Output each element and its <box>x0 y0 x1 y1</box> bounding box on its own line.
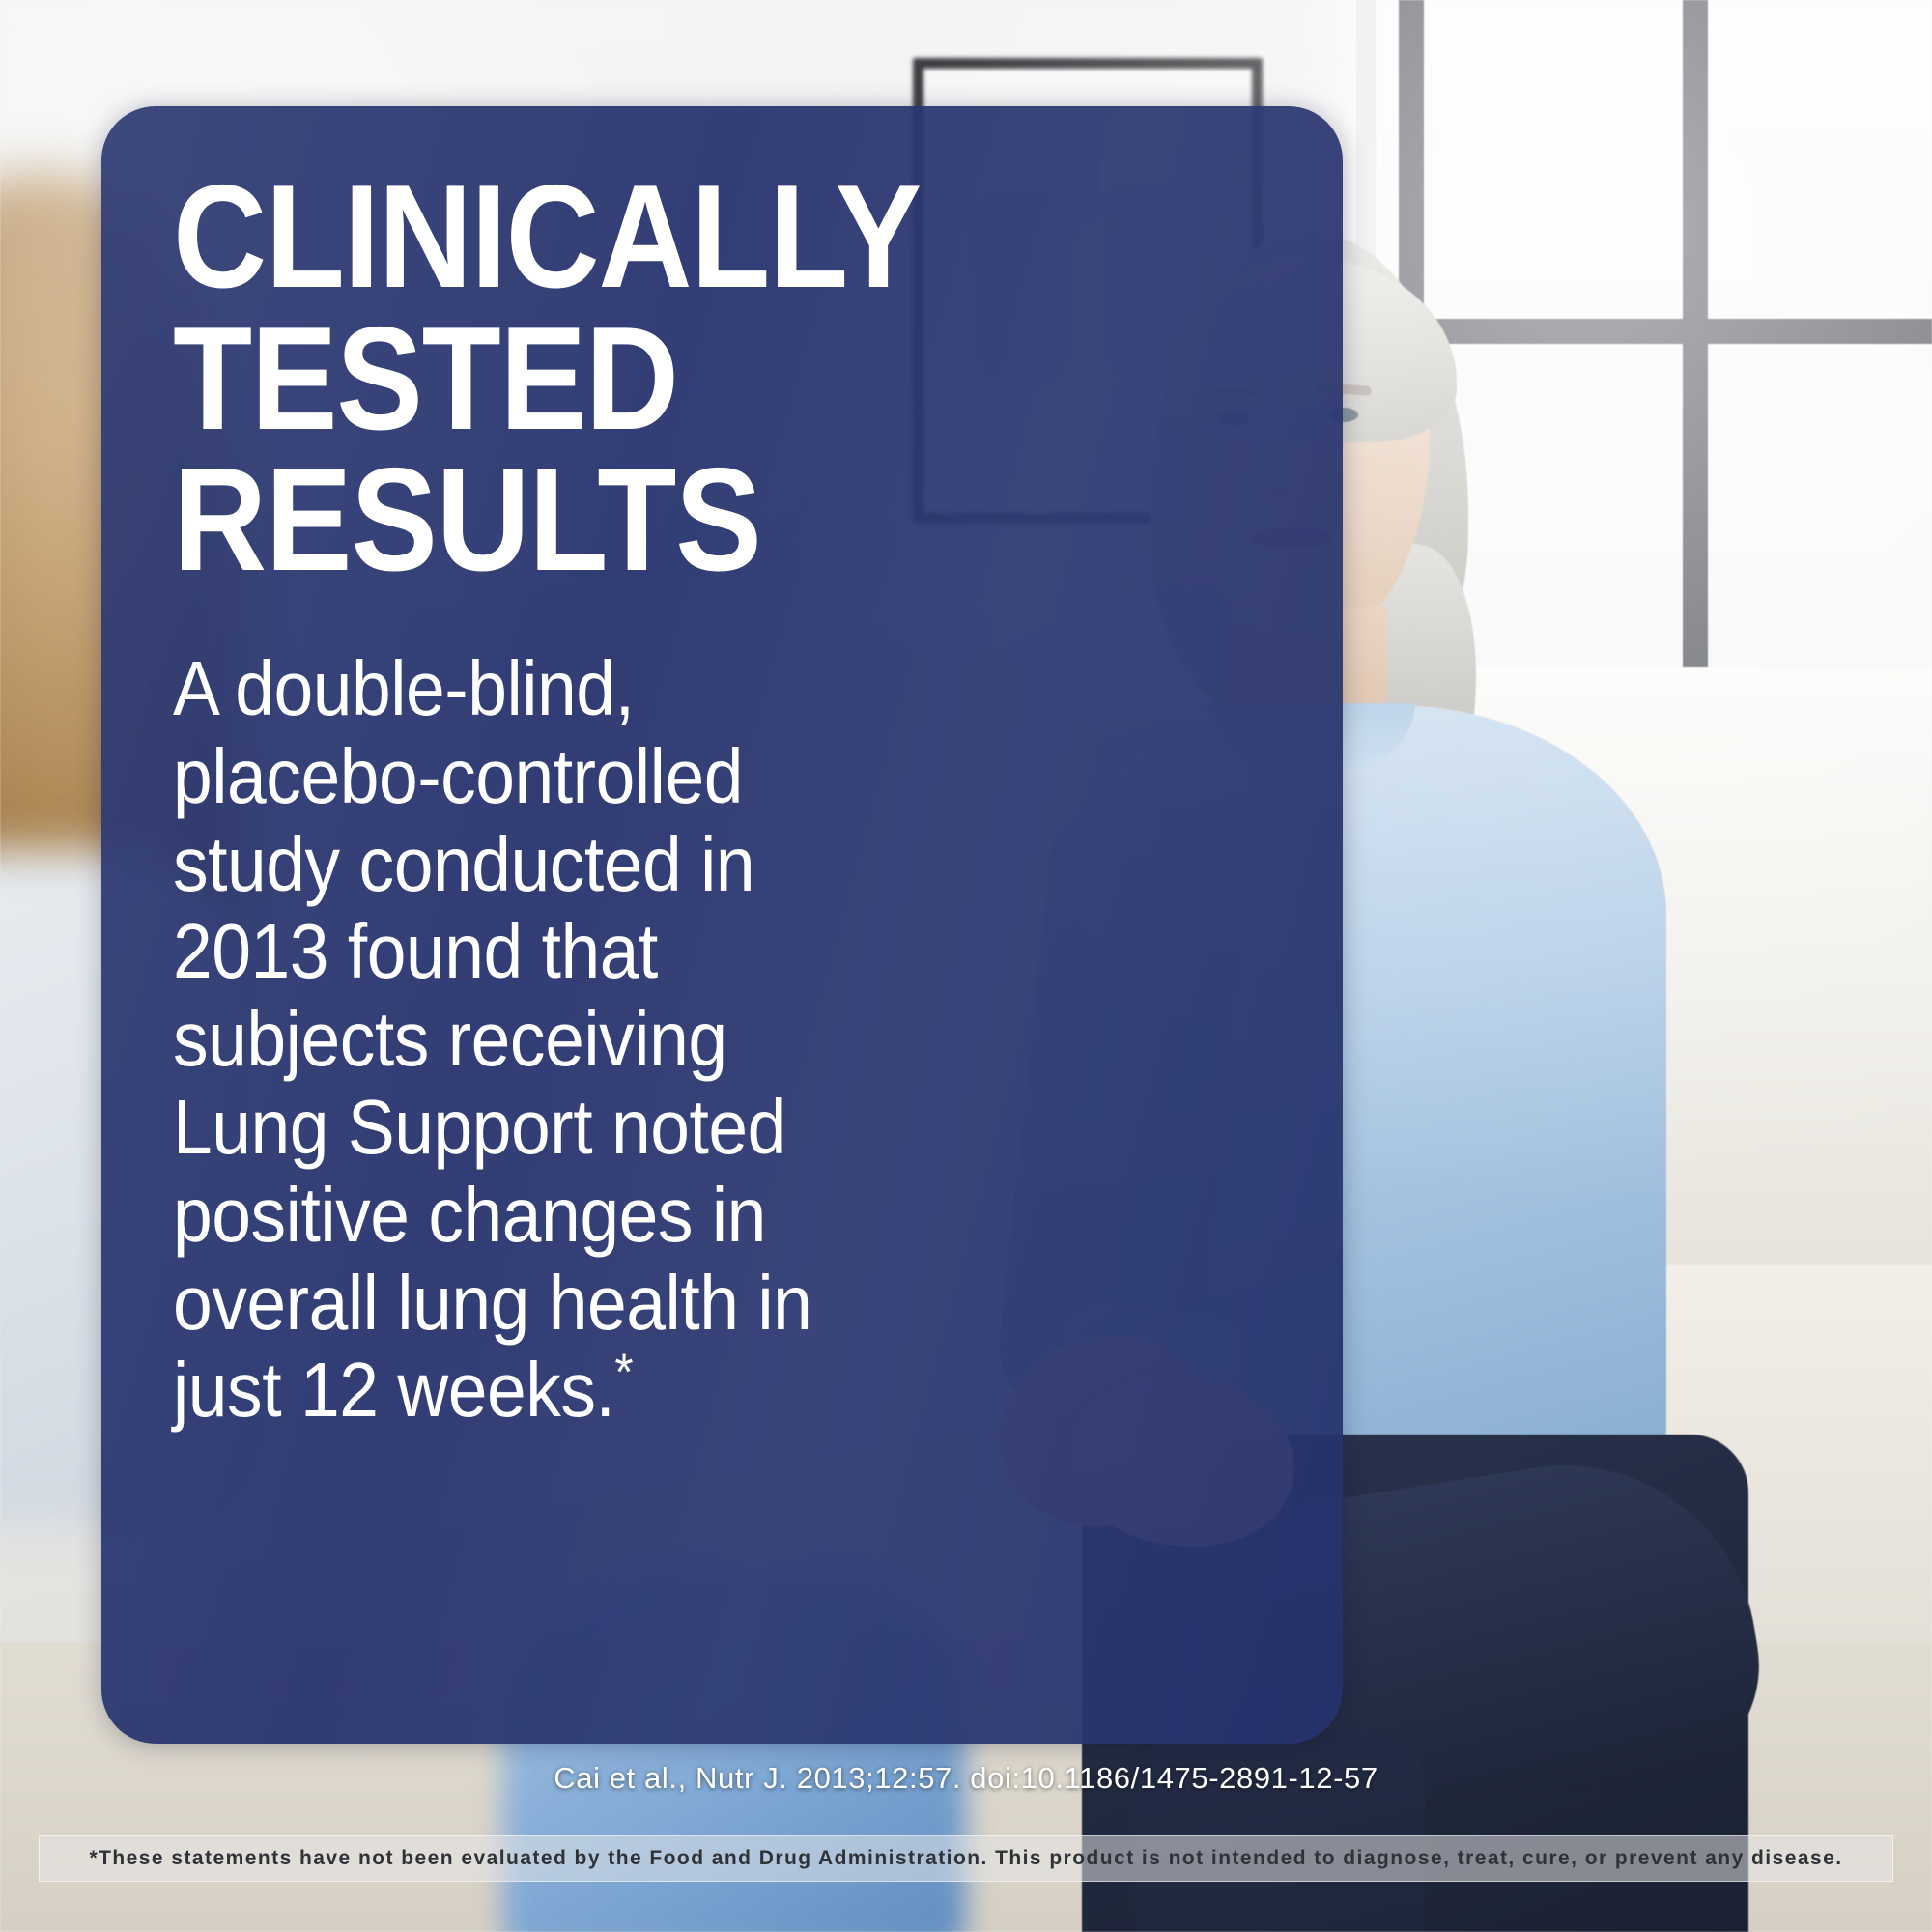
page-title: CLINICALLY TESTED RESULTS <box>173 166 1145 591</box>
study-description-text: A double-blind, placebo-controlled study… <box>173 645 811 1433</box>
navy-content-panel: CLINICALLY TESTED RESULTS A double-blind… <box>101 106 1343 1744</box>
promo-graphic: CLINICALLY TESTED RESULTS A double-blind… <box>0 0 1932 1932</box>
study-description: A double-blind, placebo-controlled study… <box>173 645 863 1435</box>
study-citation: Cai et al., Nutr J. 2013;12:57. doi:10.1… <box>0 1761 1932 1796</box>
shin <box>1135 1729 1425 1932</box>
fda-disclaimer-text: *These statements have not been evaluate… <box>90 1847 1843 1870</box>
asterisk-marker: * <box>614 1344 633 1402</box>
fda-disclaimer-bar: *These statements have not been evaluate… <box>39 1835 1893 1882</box>
